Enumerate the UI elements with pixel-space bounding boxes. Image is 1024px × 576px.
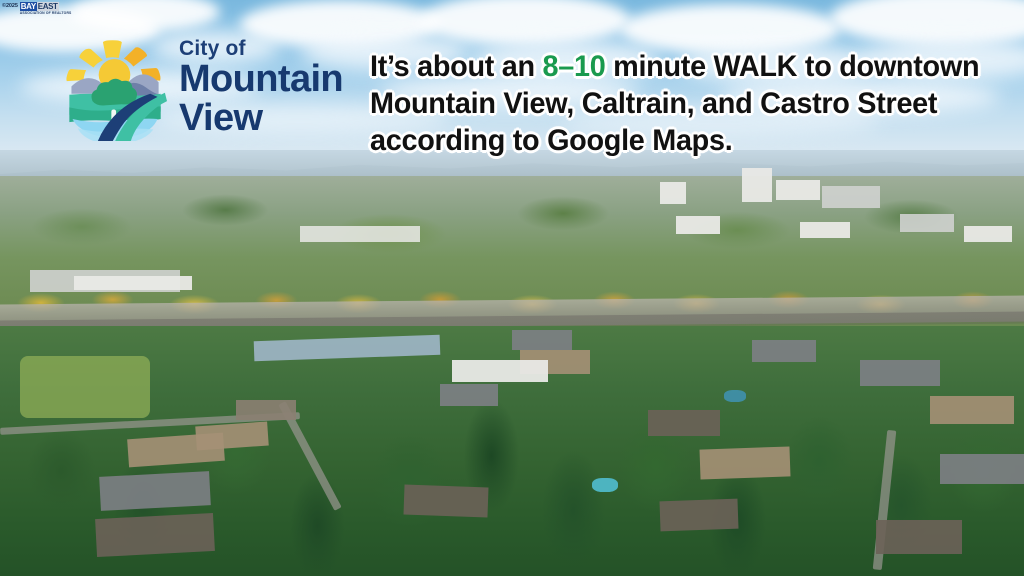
house-roof bbox=[440, 384, 498, 406]
house-roof bbox=[404, 485, 489, 518]
house-roof bbox=[752, 340, 816, 362]
house-roof bbox=[95, 513, 215, 557]
watermark-copyright: ©2025 bbox=[2, 2, 18, 11]
watermark-brand: BAY EAST bbox=[20, 2, 72, 11]
house-roof bbox=[195, 422, 268, 451]
caption-line-3: according to Google Maps. bbox=[370, 122, 984, 159]
mountain-view-emblem-icon bbox=[62, 36, 167, 141]
caption-walk-time-highlight: 8–10 bbox=[543, 50, 606, 83]
house-roof bbox=[876, 520, 962, 554]
caption-line-2: Mountain View, Caltrain, and Castro Stre… bbox=[370, 85, 984, 122]
house-roof bbox=[236, 400, 296, 420]
logo-wordmark: City of Mountain View bbox=[179, 38, 343, 138]
caption-line1-pre: It’s about an bbox=[370, 50, 543, 83]
swimming-pool bbox=[724, 390, 746, 402]
downtown-building bbox=[742, 168, 772, 202]
swimming-pool bbox=[592, 478, 618, 492]
watermark-brand-primary: BAY bbox=[20, 2, 37, 11]
downtown-building bbox=[800, 222, 850, 238]
watermark-brand-secondary: EAST bbox=[37, 2, 59, 11]
house-roof bbox=[930, 396, 1014, 424]
logo-line-view: View bbox=[179, 99, 343, 139]
house-roof bbox=[648, 410, 720, 436]
apartment-roof bbox=[452, 360, 548, 382]
downtown-building bbox=[676, 216, 720, 234]
caption-line1-post: minute WALK to downtown bbox=[605, 50, 979, 83]
caption-line-1: It’s about an 8–10 minute WALK to downto… bbox=[370, 48, 984, 85]
downtown-building bbox=[964, 226, 1012, 242]
bay-east-watermark: ©2025 BAY EAST ASSOCIATION OF REALTORS bbox=[2, 2, 71, 16]
house-roof bbox=[99, 471, 211, 511]
house-roof bbox=[512, 330, 572, 350]
watermark-subtitle: ASSOCIATION OF REALTORS bbox=[20, 11, 72, 16]
downtown-building bbox=[660, 182, 686, 204]
caption-overlay: It’s about an 8–10 minute WALK to downto… bbox=[370, 48, 984, 159]
downtown-building bbox=[776, 180, 820, 200]
midground-building bbox=[300, 226, 420, 242]
screenshot-root: ©2025 BAY EAST ASSOCIATION OF REALTORS bbox=[0, 0, 1024, 576]
watermark-logo: BAY EAST ASSOCIATION OF REALTORS bbox=[20, 2, 72, 16]
house-roof bbox=[860, 360, 940, 386]
logo-line-mountain: Mountain bbox=[179, 61, 343, 98]
house-roof bbox=[660, 499, 739, 532]
city-logo: City of Mountain View bbox=[62, 36, 343, 141]
house-roof bbox=[700, 446, 791, 479]
downtown-building bbox=[900, 214, 954, 232]
house-roof bbox=[940, 454, 1024, 484]
open-lawn bbox=[20, 356, 150, 418]
logo-line-city-of: City of bbox=[179, 38, 343, 59]
landscape-icon bbox=[69, 74, 167, 141]
downtown-building bbox=[822, 186, 880, 208]
